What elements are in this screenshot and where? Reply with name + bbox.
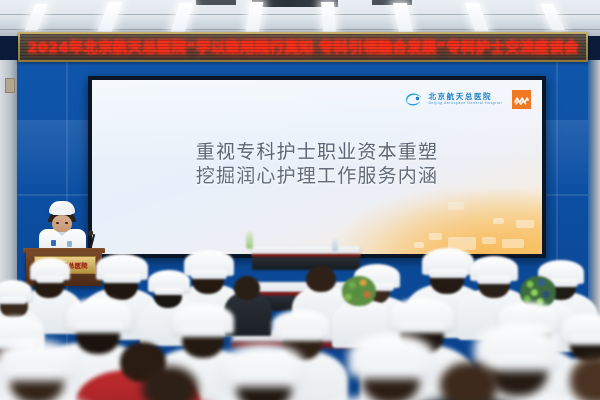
ceiling-light	[321, 2, 336, 32]
ceiling-light	[393, 3, 413, 32]
hospital-badge-icon	[512, 90, 531, 109]
desk	[252, 257, 360, 270]
speaker-badge	[67, 241, 72, 247]
conference-hall-photo: 2024年北京航天总医院“学以致用践行真知 专科引领融合发展”专科护士交流座谈会	[0, 0, 600, 400]
hospital-logo-cn: 北京航天总医院	[428, 93, 502, 101]
hospital-logo-mark	[406, 93, 423, 106]
slide-title: 重视专科护士职业资本重塑 挖掘润心护理工作服务内涵	[92, 140, 542, 189]
slide-title-line-2: 挖掘润心护理工作服务内涵	[92, 164, 542, 188]
ceiling-light	[540, 4, 565, 30]
ceiling-light	[465, 3, 489, 31]
water-bottle	[246, 232, 253, 249]
slide-hospital-logo: 北京航天总医院 Beijing Aerospace General Hospit…	[406, 90, 531, 109]
speaker-nurse-cap	[49, 201, 75, 214]
ceiling	[0, 0, 600, 36]
ceiling-light	[171, 3, 194, 32]
slide-title-line-1: 重视专科护士职业资本重塑	[92, 140, 542, 164]
ceiling-light	[25, 4, 49, 30]
projection-screen: 北京航天总医院 Beijing Aerospace General Hospit…	[88, 76, 546, 258]
led-banner: 2024年北京航天总医院“学以致用践行真知 专科引领融合发展”专科护士交流座谈会	[18, 32, 588, 62]
water-bottle	[332, 238, 338, 252]
speaker-badge	[51, 240, 56, 246]
hospital-logo-en: Beijing Aerospace General Hospital	[428, 102, 502, 106]
speaker-face	[52, 215, 72, 232]
wall-outlet	[5, 78, 15, 93]
microphone-icon	[88, 230, 93, 236]
ceiling-light	[98, 2, 123, 32]
ceiling-light	[246, 2, 264, 32]
